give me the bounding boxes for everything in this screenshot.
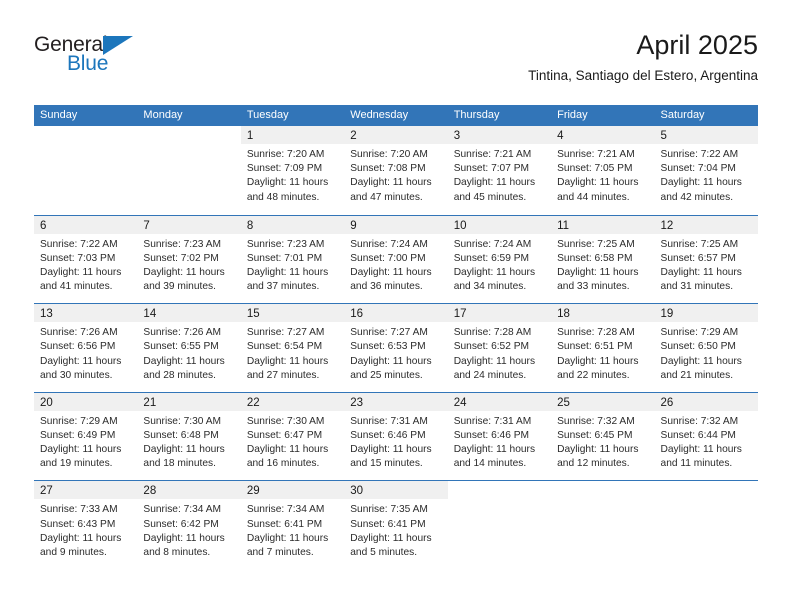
day-details: Sunrise: 7:25 AMSunset: 6:58 PMDaylight:…	[551, 234, 654, 295]
day-detail-line: Sunrise: 7:28 AM	[557, 326, 648, 340]
logo-text-blue: Blue	[67, 53, 108, 75]
day-cell-29[interactable]: 29Sunrise: 7:34 AMSunset: 6:41 PMDayligh…	[241, 481, 344, 569]
day-detail-line: Sunset: 6:56 PM	[40, 340, 131, 354]
day-number: 19	[661, 308, 674, 320]
day-detail-line: and 15 minutes.	[350, 457, 441, 471]
day-detail-line: Daylight: 11 hours	[454, 443, 545, 457]
day-details: Sunrise: 7:29 AMSunset: 6:49 PMDaylight:…	[34, 411, 137, 472]
day-number: 30	[350, 485, 363, 497]
day-detail-line: Sunrise: 7:22 AM	[661, 148, 752, 162]
day-detail-line: Sunset: 6:41 PM	[350, 518, 441, 532]
day-details: Sunrise: 7:25 AMSunset: 6:57 PMDaylight:…	[655, 234, 758, 295]
day-detail-line: Daylight: 11 hours	[661, 266, 752, 280]
day-cell-5[interactable]: 5Sunrise: 7:22 AMSunset: 7:04 PMDaylight…	[655, 126, 758, 215]
day-details: Sunrise: 7:20 AMSunset: 7:09 PMDaylight:…	[241, 144, 344, 205]
day-detail-line: and 22 minutes.	[557, 369, 648, 383]
day-number: 11	[557, 220, 569, 232]
day-detail-line: Sunset: 6:44 PM	[661, 429, 752, 443]
day-details: Sunrise: 7:26 AMSunset: 6:55 PMDaylight:…	[137, 322, 240, 383]
day-detail-line: Sunrise: 7:31 AM	[454, 415, 545, 429]
day-number-band: 5	[655, 126, 758, 144]
day-number-band: 15	[241, 304, 344, 322]
day-detail-line: Sunrise: 7:27 AM	[350, 326, 441, 340]
day-detail-line: Sunset: 6:42 PM	[143, 518, 234, 532]
day-cell-16[interactable]: 16Sunrise: 7:27 AMSunset: 6:53 PMDayligh…	[344, 304, 447, 392]
page-header: General Blue April 2025 Tintina, Santiag…	[34, 28, 758, 96]
day-details	[551, 499, 654, 503]
day-detail-line: Daylight: 11 hours	[40, 266, 131, 280]
day-detail-line: Sunset: 7:01 PM	[247, 252, 338, 266]
calendar-grid: SundayMondayTuesdayWednesdayThursdayFrid…	[34, 105, 758, 569]
day-cell-23[interactable]: 23Sunrise: 7:31 AMSunset: 6:46 PMDayligh…	[344, 393, 447, 481]
day-number: 18	[557, 308, 570, 320]
day-detail-line: and 12 minutes.	[557, 457, 648, 471]
day-details	[137, 144, 240, 148]
day-number-band	[137, 126, 240, 144]
weekday-header-row: SundayMondayTuesdayWednesdayThursdayFrid…	[34, 105, 758, 126]
day-detail-line: Daylight: 11 hours	[350, 176, 441, 190]
day-detail-line: Sunrise: 7:29 AM	[40, 415, 131, 429]
day-details: Sunrise: 7:31 AMSunset: 6:46 PMDaylight:…	[448, 411, 551, 472]
day-details: Sunrise: 7:27 AMSunset: 6:53 PMDaylight:…	[344, 322, 447, 383]
day-detail-line: Daylight: 11 hours	[557, 443, 648, 457]
day-detail-line: and 21 minutes.	[661, 369, 752, 383]
day-detail-line: and 8 minutes.	[143, 546, 234, 560]
day-details: Sunrise: 7:32 AMSunset: 6:45 PMDaylight:…	[551, 411, 654, 472]
day-cell-14[interactable]: 14Sunrise: 7:26 AMSunset: 6:55 PMDayligh…	[137, 304, 240, 392]
day-cell-6[interactable]: 6Sunrise: 7:22 AMSunset: 7:03 PMDaylight…	[34, 216, 137, 304]
day-details: Sunrise: 7:20 AMSunset: 7:08 PMDaylight:…	[344, 144, 447, 205]
day-number: 16	[350, 308, 363, 320]
day-number: 20	[40, 397, 53, 409]
day-detail-line: and 45 minutes.	[454, 191, 545, 205]
day-detail-line: Daylight: 11 hours	[247, 532, 338, 546]
day-detail-line: Sunrise: 7:20 AM	[350, 148, 441, 162]
day-detail-line: Sunset: 6:55 PM	[143, 340, 234, 354]
day-number: 5	[661, 130, 667, 142]
calendar-week-row: 6Sunrise: 7:22 AMSunset: 7:03 PMDaylight…	[34, 215, 758, 304]
day-cell-17[interactable]: 17Sunrise: 7:28 AMSunset: 6:52 PMDayligh…	[448, 304, 551, 392]
day-detail-line: and 18 minutes.	[143, 457, 234, 471]
day-number-band: 24	[448, 393, 551, 411]
day-cell-28[interactable]: 28Sunrise: 7:34 AMSunset: 6:42 PMDayligh…	[137, 481, 240, 569]
day-detail-line: and 19 minutes.	[40, 457, 131, 471]
day-detail-line: Sunrise: 7:30 AM	[143, 415, 234, 429]
day-cell-30[interactable]: 30Sunrise: 7:35 AMSunset: 6:41 PMDayligh…	[344, 481, 447, 569]
day-detail-line: Sunset: 6:51 PM	[557, 340, 648, 354]
day-cell-empty	[34, 126, 137, 215]
day-detail-line: and 5 minutes.	[350, 546, 441, 560]
day-detail-line: Daylight: 11 hours	[247, 266, 338, 280]
general-blue-logo: General Blue	[34, 34, 164, 88]
day-detail-line: Sunset: 7:07 PM	[454, 162, 545, 176]
weekday-header-friday: Friday	[551, 105, 654, 126]
calendar-week-row: 13Sunrise: 7:26 AMSunset: 6:56 PMDayligh…	[34, 303, 758, 392]
day-detail-line: Sunset: 6:43 PM	[40, 518, 131, 532]
day-details: Sunrise: 7:27 AMSunset: 6:54 PMDaylight:…	[241, 322, 344, 383]
day-number: 29	[247, 485, 260, 497]
day-number-band: 6	[34, 216, 137, 234]
day-detail-line: Daylight: 11 hours	[350, 532, 441, 546]
day-detail-line: Sunset: 6:46 PM	[454, 429, 545, 443]
day-detail-line: Sunrise: 7:34 AM	[247, 503, 338, 517]
day-number: 10	[454, 220, 467, 232]
day-detail-line: Daylight: 11 hours	[661, 176, 752, 190]
day-detail-line: Daylight: 11 hours	[454, 355, 545, 369]
calendar-weeks: 1Sunrise: 7:20 AMSunset: 7:09 PMDaylight…	[34, 126, 758, 569]
day-number-band	[655, 481, 758, 499]
day-detail-line: Sunrise: 7:30 AM	[247, 415, 338, 429]
day-number: 7	[143, 220, 149, 232]
day-detail-line: Sunrise: 7:32 AM	[661, 415, 752, 429]
day-number: 15	[247, 308, 260, 320]
day-number: 4	[557, 130, 563, 142]
day-number: 6	[40, 220, 46, 232]
day-detail-line: Daylight: 11 hours	[247, 355, 338, 369]
day-detail-line: Daylight: 11 hours	[143, 355, 234, 369]
day-details: Sunrise: 7:26 AMSunset: 6:56 PMDaylight:…	[34, 322, 137, 383]
day-number-band: 9	[344, 216, 447, 234]
day-details: Sunrise: 7:33 AMSunset: 6:43 PMDaylight:…	[34, 499, 137, 560]
day-details: Sunrise: 7:35 AMSunset: 6:41 PMDaylight:…	[344, 499, 447, 560]
day-number: 8	[247, 220, 253, 232]
day-detail-line: Sunset: 6:41 PM	[247, 518, 338, 532]
day-number-band: 25	[551, 393, 654, 411]
day-number-band: 27	[34, 481, 137, 499]
day-detail-line: Sunrise: 7:35 AM	[350, 503, 441, 517]
day-number: 24	[454, 397, 467, 409]
day-number-band	[448, 481, 551, 499]
day-detail-line: and 24 minutes.	[454, 369, 545, 383]
day-detail-line: Daylight: 11 hours	[40, 443, 131, 457]
day-detail-line: Sunrise: 7:34 AM	[143, 503, 234, 517]
day-cell-25[interactable]: 25Sunrise: 7:32 AMSunset: 6:45 PMDayligh…	[551, 393, 654, 481]
day-detail-line: Sunrise: 7:26 AM	[40, 326, 131, 340]
day-detail-line: Sunrise: 7:24 AM	[454, 238, 545, 252]
weekday-header-thursday: Thursday	[448, 105, 551, 126]
day-details: Sunrise: 7:24 AMSunset: 7:00 PMDaylight:…	[344, 234, 447, 295]
day-detail-line: Sunset: 6:49 PM	[40, 429, 131, 443]
day-details: Sunrise: 7:22 AMSunset: 7:04 PMDaylight:…	[655, 144, 758, 205]
day-details: Sunrise: 7:30 AMSunset: 6:48 PMDaylight:…	[137, 411, 240, 472]
day-cell-21[interactable]: 21Sunrise: 7:30 AMSunset: 6:48 PMDayligh…	[137, 393, 240, 481]
day-cell-2[interactable]: 2Sunrise: 7:20 AMSunset: 7:08 PMDaylight…	[344, 126, 447, 215]
day-number: 14	[143, 308, 156, 320]
day-cell-1[interactable]: 1Sunrise: 7:20 AMSunset: 7:09 PMDaylight…	[241, 126, 344, 215]
day-details	[34, 144, 137, 148]
day-cell-3[interactable]: 3Sunrise: 7:21 AMSunset: 7:07 PMDaylight…	[448, 126, 551, 215]
weekday-header-saturday: Saturday	[655, 105, 758, 126]
day-number-band: 20	[34, 393, 137, 411]
day-detail-line: Sunset: 7:05 PM	[557, 162, 648, 176]
day-detail-line: Sunrise: 7:28 AM	[454, 326, 545, 340]
day-detail-line: Sunset: 7:03 PM	[40, 252, 131, 266]
day-detail-line: Sunset: 6:46 PM	[350, 429, 441, 443]
day-number: 1	[247, 130, 253, 142]
day-number-band: 30	[344, 481, 447, 499]
day-cell-15[interactable]: 15Sunrise: 7:27 AMSunset: 6:54 PMDayligh…	[241, 304, 344, 392]
day-detail-line: Daylight: 11 hours	[661, 443, 752, 457]
day-details: Sunrise: 7:22 AMSunset: 7:03 PMDaylight:…	[34, 234, 137, 295]
day-number: 23	[350, 397, 363, 409]
day-detail-line: Sunset: 6:53 PM	[350, 340, 441, 354]
day-detail-line: Sunset: 6:59 PM	[454, 252, 545, 266]
day-cell-8[interactable]: 8Sunrise: 7:23 AMSunset: 7:01 PMDaylight…	[241, 216, 344, 304]
day-detail-line: Daylight: 11 hours	[661, 355, 752, 369]
day-detail-line: and 14 minutes.	[454, 457, 545, 471]
day-detail-line: Sunrise: 7:23 AM	[143, 238, 234, 252]
day-detail-line: Sunrise: 7:21 AM	[454, 148, 545, 162]
day-cell-20[interactable]: 20Sunrise: 7:29 AMSunset: 6:49 PMDayligh…	[34, 393, 137, 481]
day-cell-26[interactable]: 26Sunrise: 7:32 AMSunset: 6:44 PMDayligh…	[655, 393, 758, 481]
day-cell-11[interactable]: 11Sunrise: 7:25 AMSunset: 6:58 PMDayligh…	[551, 216, 654, 304]
day-detail-line: Daylight: 11 hours	[454, 176, 545, 190]
weekday-header-sunday: Sunday	[34, 105, 137, 126]
day-number-band: 17	[448, 304, 551, 322]
day-detail-line: Sunset: 7:09 PM	[247, 162, 338, 176]
page-title: April 2025	[528, 28, 758, 62]
day-cell-24[interactable]: 24Sunrise: 7:31 AMSunset: 6:46 PMDayligh…	[448, 393, 551, 481]
calendar-page: General Blue April 2025 Tintina, Santiag…	[0, 0, 792, 612]
day-number-band: 18	[551, 304, 654, 322]
day-detail-line: and 30 minutes.	[40, 369, 131, 383]
day-detail-line: and 47 minutes.	[350, 191, 441, 205]
day-details	[448, 499, 551, 503]
day-detail-line: and 9 minutes.	[40, 546, 131, 560]
day-number-band: 7	[137, 216, 240, 234]
day-detail-line: Sunrise: 7:21 AM	[557, 148, 648, 162]
day-detail-line: Daylight: 11 hours	[143, 266, 234, 280]
day-details: Sunrise: 7:29 AMSunset: 6:50 PMDaylight:…	[655, 322, 758, 383]
day-cell-empty	[448, 481, 551, 569]
day-number-band: 22	[241, 393, 344, 411]
day-detail-line: Sunset: 6:50 PM	[661, 340, 752, 354]
weekday-header-wednesday: Wednesday	[344, 105, 447, 126]
day-details: Sunrise: 7:31 AMSunset: 6:46 PMDaylight:…	[344, 411, 447, 472]
day-number: 22	[247, 397, 260, 409]
day-detail-line: Sunset: 6:54 PM	[247, 340, 338, 354]
day-detail-line: Sunset: 7:00 PM	[350, 252, 441, 266]
day-detail-line: Sunrise: 7:33 AM	[40, 503, 131, 517]
day-details: Sunrise: 7:23 AMSunset: 7:01 PMDaylight:…	[241, 234, 344, 295]
day-detail-line: Sunset: 6:52 PM	[454, 340, 545, 354]
day-number-band: 19	[655, 304, 758, 322]
day-details: Sunrise: 7:21 AMSunset: 7:07 PMDaylight:…	[448, 144, 551, 205]
day-detail-line: Sunrise: 7:26 AM	[143, 326, 234, 340]
day-detail-line: Sunset: 6:57 PM	[661, 252, 752, 266]
day-details: Sunrise: 7:28 AMSunset: 6:52 PMDaylight:…	[448, 322, 551, 383]
day-detail-line: Daylight: 11 hours	[454, 266, 545, 280]
day-detail-line: and 34 minutes.	[454, 280, 545, 294]
day-detail-line: Daylight: 11 hours	[143, 443, 234, 457]
calendar-week-row: 1Sunrise: 7:20 AMSunset: 7:09 PMDaylight…	[34, 126, 758, 215]
day-detail-line: and 11 minutes.	[661, 457, 752, 471]
day-number-band: 4	[551, 126, 654, 144]
day-number-band: 13	[34, 304, 137, 322]
day-detail-line: Sunrise: 7:23 AM	[247, 238, 338, 252]
calendar-week-row: 20Sunrise: 7:29 AMSunset: 6:49 PMDayligh…	[34, 392, 758, 481]
weekday-header-tuesday: Tuesday	[241, 105, 344, 126]
day-number-band: 29	[241, 481, 344, 499]
day-details: Sunrise: 7:24 AMSunset: 6:59 PMDaylight:…	[448, 234, 551, 295]
day-number-band: 26	[655, 393, 758, 411]
day-number: 2	[350, 130, 356, 142]
day-number-band: 3	[448, 126, 551, 144]
day-detail-line: and 36 minutes.	[350, 280, 441, 294]
day-detail-line: Sunrise: 7:20 AM	[247, 148, 338, 162]
day-number-band	[34, 126, 137, 144]
day-number: 3	[454, 130, 460, 142]
day-number: 25	[557, 397, 570, 409]
day-detail-line: and 16 minutes.	[247, 457, 338, 471]
day-detail-line: and 31 minutes.	[661, 280, 752, 294]
day-detail-line: and 44 minutes.	[557, 191, 648, 205]
day-cell-7[interactable]: 7Sunrise: 7:23 AMSunset: 7:02 PMDaylight…	[137, 216, 240, 304]
day-number-band: 14	[137, 304, 240, 322]
day-cell-19[interactable]: 19Sunrise: 7:29 AMSunset: 6:50 PMDayligh…	[655, 304, 758, 392]
day-cell-empty	[137, 126, 240, 215]
day-detail-line: Sunrise: 7:31 AM	[350, 415, 441, 429]
day-details: Sunrise: 7:21 AMSunset: 7:05 PMDaylight:…	[551, 144, 654, 205]
day-cell-empty	[551, 481, 654, 569]
day-number: 21	[143, 397, 156, 409]
day-detail-line: Daylight: 11 hours	[350, 266, 441, 280]
day-detail-line: Daylight: 11 hours	[557, 266, 648, 280]
day-detail-line: Daylight: 11 hours	[350, 443, 441, 457]
day-detail-line: Sunrise: 7:25 AM	[661, 238, 752, 252]
day-cell-4[interactable]: 4Sunrise: 7:21 AMSunset: 7:05 PMDaylight…	[551, 126, 654, 215]
day-detail-line: Sunset: 7:04 PM	[661, 162, 752, 176]
day-number: 13	[40, 308, 53, 320]
day-cell-18[interactable]: 18Sunrise: 7:28 AMSunset: 6:51 PMDayligh…	[551, 304, 654, 392]
day-number-band: 28	[137, 481, 240, 499]
day-detail-line: Sunset: 7:02 PM	[143, 252, 234, 266]
day-details	[655, 499, 758, 503]
day-detail-line: and 7 minutes.	[247, 546, 338, 560]
day-detail-line: and 27 minutes.	[247, 369, 338, 383]
day-number-band: 11	[551, 216, 654, 234]
day-number: 9	[350, 220, 356, 232]
day-number-band: 8	[241, 216, 344, 234]
day-detail-line: Sunrise: 7:24 AM	[350, 238, 441, 252]
day-detail-line: Sunrise: 7:22 AM	[40, 238, 131, 252]
day-detail-line: Daylight: 11 hours	[40, 355, 131, 369]
day-cell-empty	[655, 481, 758, 569]
day-cell-22[interactable]: 22Sunrise: 7:30 AMSunset: 6:47 PMDayligh…	[241, 393, 344, 481]
day-detail-line: Sunset: 6:45 PM	[557, 429, 648, 443]
day-number-band	[551, 481, 654, 499]
day-number-band: 23	[344, 393, 447, 411]
day-detail-line: Sunset: 6:47 PM	[247, 429, 338, 443]
day-detail-line: Sunrise: 7:27 AM	[247, 326, 338, 340]
day-detail-line: and 28 minutes.	[143, 369, 234, 383]
day-details: Sunrise: 7:32 AMSunset: 6:44 PMDaylight:…	[655, 411, 758, 472]
day-details: Sunrise: 7:28 AMSunset: 6:51 PMDaylight:…	[551, 322, 654, 383]
day-detail-line: Sunrise: 7:29 AM	[661, 326, 752, 340]
day-detail-line: Sunset: 6:58 PM	[557, 252, 648, 266]
day-number-band: 21	[137, 393, 240, 411]
day-number: 27	[40, 485, 53, 497]
day-detail-line: Daylight: 11 hours	[557, 176, 648, 190]
day-number-band: 1	[241, 126, 344, 144]
day-detail-line: and 39 minutes.	[143, 280, 234, 294]
day-detail-line: Sunset: 7:08 PM	[350, 162, 441, 176]
page-subtitle: Tintina, Santiago del Estero, Argentina	[528, 66, 758, 86]
day-detail-line: and 41 minutes.	[40, 280, 131, 294]
day-number: 17	[454, 308, 467, 320]
day-detail-line: Daylight: 11 hours	[247, 443, 338, 457]
day-detail-line: Daylight: 11 hours	[143, 532, 234, 546]
day-detail-line: and 25 minutes.	[350, 369, 441, 383]
day-detail-line: Sunrise: 7:25 AM	[557, 238, 648, 252]
day-detail-line: and 37 minutes.	[247, 280, 338, 294]
day-number-band: 16	[344, 304, 447, 322]
day-detail-line: Daylight: 11 hours	[40, 532, 131, 546]
title-block: April 2025 Tintina, Santiago del Estero,…	[528, 28, 758, 86]
day-detail-line: Sunrise: 7:32 AM	[557, 415, 648, 429]
day-cell-12[interactable]: 12Sunrise: 7:25 AMSunset: 6:57 PMDayligh…	[655, 216, 758, 304]
day-detail-line: Sunset: 6:48 PM	[143, 429, 234, 443]
day-detail-line: Daylight: 11 hours	[557, 355, 648, 369]
day-number-band: 10	[448, 216, 551, 234]
day-details: Sunrise: 7:23 AMSunset: 7:02 PMDaylight:…	[137, 234, 240, 295]
day-detail-line: Daylight: 11 hours	[350, 355, 441, 369]
day-details: Sunrise: 7:30 AMSunset: 6:47 PMDaylight:…	[241, 411, 344, 472]
day-number: 12	[661, 220, 674, 232]
day-detail-line: Daylight: 11 hours	[247, 176, 338, 190]
day-detail-line: and 42 minutes.	[661, 191, 752, 205]
day-details: Sunrise: 7:34 AMSunset: 6:42 PMDaylight:…	[137, 499, 240, 560]
day-number-band: 2	[344, 126, 447, 144]
day-cell-9[interactable]: 9Sunrise: 7:24 AMSunset: 7:00 PMDaylight…	[344, 216, 447, 304]
day-number: 26	[661, 397, 674, 409]
day-cell-13[interactable]: 13Sunrise: 7:26 AMSunset: 6:56 PMDayligh…	[34, 304, 137, 392]
day-detail-line: and 33 minutes.	[557, 280, 648, 294]
day-cell-10[interactable]: 10Sunrise: 7:24 AMSunset: 6:59 PMDayligh…	[448, 216, 551, 304]
day-details: Sunrise: 7:34 AMSunset: 6:41 PMDaylight:…	[241, 499, 344, 560]
calendar-week-row: 27Sunrise: 7:33 AMSunset: 6:43 PMDayligh…	[34, 480, 758, 569]
day-detail-line: and 48 minutes.	[247, 191, 338, 205]
day-number: 28	[143, 485, 156, 497]
day-cell-27[interactable]: 27Sunrise: 7:33 AMSunset: 6:43 PMDayligh…	[34, 481, 137, 569]
weekday-header-monday: Monday	[137, 105, 240, 126]
day-number-band: 12	[655, 216, 758, 234]
